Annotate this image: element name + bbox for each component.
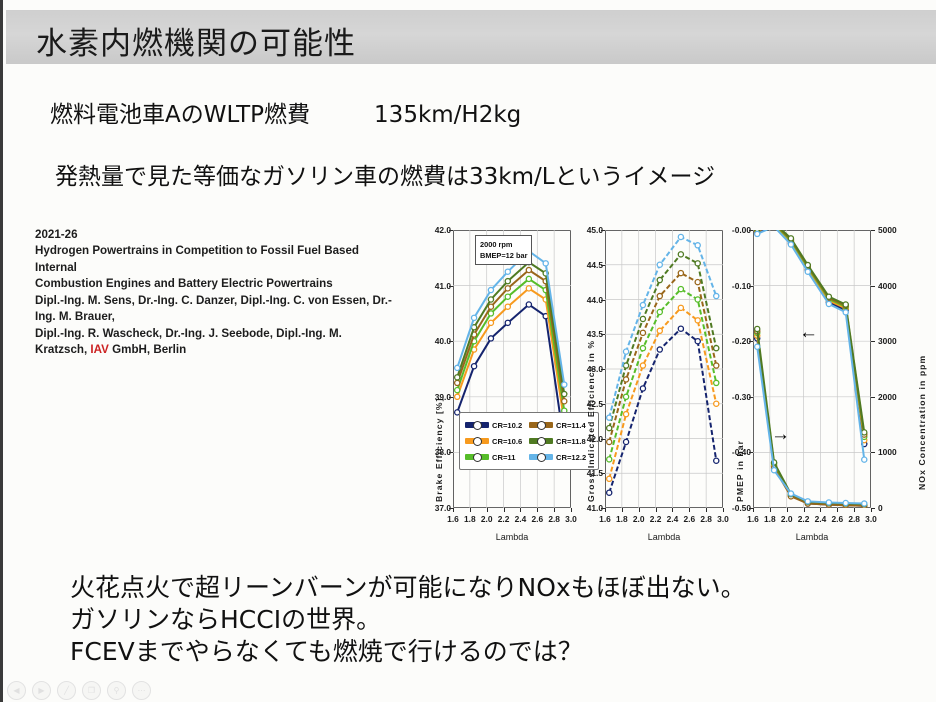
x-tick-2: 2.6 — [683, 514, 695, 524]
x-tick-2: 2.4 — [667, 514, 679, 524]
legend-label: CR=11.4 — [556, 421, 586, 430]
x-tick-mark — [854, 508, 855, 512]
x-tick-mark — [537, 508, 538, 512]
chart-svg-3 — [753, 230, 871, 508]
reference-author-line-4: Kratzsch, IAV GmbH, Berlin — [35, 342, 415, 358]
x-tick-mark — [770, 508, 771, 512]
y-tick-2: 44.5 — [571, 260, 603, 270]
x-tick-mark — [470, 508, 471, 512]
y-tick-1: 40.0 — [419, 336, 451, 346]
y-tick-mark-right — [871, 397, 875, 398]
x-tick-1: 1.6 — [447, 514, 459, 524]
previous-icon[interactable]: ◀ — [7, 681, 26, 700]
x-tick-2: 2.2 — [650, 514, 662, 524]
x-axis-label-1: Lambda — [453, 532, 571, 542]
annotation-bmep: BMEP=12 bar — [480, 250, 527, 261]
legend-item: CR=10.6 — [465, 437, 529, 446]
left-arrow-icon: ← — [799, 323, 818, 342]
x-tick-3: 2.4 — [815, 514, 827, 524]
x-tick-mark — [706, 508, 707, 512]
legend-label: CR=11 — [492, 453, 515, 462]
y-tick-1: 37.0 — [419, 503, 451, 513]
x-tick-1: 1.8 — [464, 514, 476, 524]
copy-icon[interactable]: ❐ — [82, 681, 101, 700]
x-tick-mark — [672, 508, 673, 512]
annotation-rpm: 2000 rpm — [480, 239, 527, 250]
legend-swatch-icon — [529, 422, 553, 429]
x-tick-mark — [820, 508, 821, 512]
x-tick-3: 3.0 — [865, 514, 877, 524]
x-tick-3: 2.6 — [831, 514, 843, 524]
reference-organization: IAV — [90, 343, 108, 356]
x-tick-1: 2.8 — [548, 514, 560, 524]
y-tick-2: 43.5 — [571, 329, 603, 339]
x-tick-mark — [453, 508, 454, 512]
pen-icon[interactable]: ╱ — [57, 681, 76, 700]
y-tick-1: 39.0 — [419, 392, 451, 402]
reference-title-line-1: Hydrogen Powertrains in Competition to F… — [35, 243, 415, 259]
legend-label: CR=10.6 — [492, 437, 522, 446]
legend-item: CR=12.2 — [529, 453, 593, 462]
x-tick-3: 2.2 — [798, 514, 810, 524]
legend-swatch-icon — [465, 422, 489, 429]
conclusion-line-2: ガソリンならHCCIの世界。 — [70, 604, 746, 636]
x-axis-label-3: Lambda — [753, 532, 871, 542]
y-tick-mark-right — [871, 341, 875, 342]
x-tick-mark — [689, 508, 690, 512]
conclusion-line-1: 火花点火で超リーンバーンが可能になりNOxもほぼ出ない。 — [70, 572, 746, 604]
reference-location: GmbH, Berlin — [109, 343, 186, 356]
y-axis-label-right: NOx Concentration in ppm — [917, 355, 927, 490]
y-tick-2: 45.0 — [571, 225, 603, 235]
x-tick-mark — [639, 508, 640, 512]
x-tick-1: 2.2 — [498, 514, 510, 524]
fuel-economy-value: 135km/H2kg — [374, 102, 521, 128]
x-tick-1: 2.4 — [515, 514, 527, 524]
x-tick-mark — [656, 508, 657, 512]
x-tick-2: 3.0 — [717, 514, 729, 524]
y-tick-right: 1000 — [878, 447, 897, 457]
y-tick-right: 3000 — [878, 336, 897, 346]
reference-title-line-3: Combustion Engines and Battery Electric … — [35, 276, 415, 292]
y-tick-3: -0.40 — [719, 447, 751, 457]
conclusion-line-3: FCEVまでやらなくても燃焼で行けるのでは？ — [70, 636, 746, 668]
y-tick-right: 5000 — [878, 225, 897, 235]
y-tick-2: 42.5 — [571, 399, 603, 409]
x-tick-3: 1.6 — [747, 514, 759, 524]
x-tick-1: 3.0 — [565, 514, 577, 524]
legend-swatch-icon — [465, 454, 489, 461]
reference-author-line-3: Dipl.-Ing. R. Wascheck, Dr.-Ing. J. Seeb… — [35, 326, 415, 342]
slide-canvas: 水素内燃機関の可能性 燃料電池車AのWLTP燃費135km/H2kg 発熱量で見… — [0, 0, 936, 702]
x-tick-mark — [787, 508, 788, 512]
y-tick-1: 42.0 — [419, 225, 451, 235]
right-arrow-icon: → — [771, 425, 790, 444]
x-tick-2: 1.6 — [599, 514, 611, 524]
y-tick-1: 41.0 — [419, 281, 451, 291]
y-tick-3: -0.10 — [719, 281, 751, 291]
fuel-economy-line: 燃料電池車AのWLTP燃費135km/H2kg — [50, 95, 521, 129]
y-tick-mark-right — [871, 230, 875, 231]
x-tick-1: 2.6 — [531, 514, 543, 524]
legend-row: CR=10.2CR=11.4 — [465, 417, 593, 433]
x-tick-3: 1.8 — [764, 514, 776, 524]
reference-id: 2021-26 — [35, 227, 415, 243]
x-axis-label-2: Lambda — [605, 532, 723, 542]
y-tick-2: 43.0 — [571, 364, 603, 374]
y-tick-2: 42.0 — [571, 434, 603, 444]
x-tick-mark — [804, 508, 805, 512]
x-tick-2: 2.8 — [700, 514, 712, 524]
reference-author-tail: Kratzsch, — [35, 343, 90, 356]
x-tick-mark — [554, 508, 555, 512]
chart-svg-2 — [605, 230, 723, 508]
page-title: 水素内燃機関の可能性 — [36, 18, 356, 63]
chart-panel-3: PMEP in bar-0.50-0.40-0.30-0.20-0.10-0.0… — [753, 218, 931, 563]
legend-item: CR=11.4 — [529, 421, 593, 430]
legend-item: CR=11 — [465, 453, 529, 462]
y-tick-2: 41.5 — [571, 468, 603, 478]
operating-point-annotation: 2000 rpmBMEP=12 bar — [475, 235, 532, 265]
more-icon[interactable]: ⋯ — [132, 681, 151, 700]
zoom-icon[interactable]: ⚲ — [107, 681, 126, 700]
x-tick-3: 2.0 — [781, 514, 793, 524]
legend-label: CR=12.2 — [556, 453, 586, 462]
y-tick-2: 41.0 — [571, 503, 603, 513]
y-tick-right: 0 — [878, 503, 883, 513]
reference-title-line-2: Internal — [35, 260, 415, 276]
x-tick-3: 2.8 — [848, 514, 860, 524]
fuel-economy-label: 燃料電池車AのWLTP燃費 — [50, 102, 310, 128]
reference-author-line-2: Ing. M. Brauer, — [35, 309, 415, 325]
legend-swatch-icon — [465, 438, 489, 445]
y-tick-3: -0.20 — [719, 336, 751, 346]
reference-author-line-1: Dipl.-Ing. M. Sens, Dr.-Ing. C. Danzer, … — [35, 293, 415, 309]
y-tick-right: 2000 — [878, 392, 897, 402]
y-tick-3: -0.00 — [719, 225, 751, 235]
play-icon[interactable]: ▶ — [32, 681, 51, 700]
conclusion-text: 火花点火で超リーンバーンが可能になりNOxもほぼ出ない。 ガソリンならHCCIの… — [70, 572, 746, 668]
x-tick-mark — [837, 508, 838, 512]
x-tick-mark — [622, 508, 623, 512]
x-tick-mark — [520, 508, 521, 512]
y-tick-mark-right — [871, 286, 875, 287]
y-tick-1: 38.0 — [419, 447, 451, 457]
y-tick-2: 44.0 — [571, 295, 603, 305]
x-tick-mark — [504, 508, 505, 512]
legend-row: CR=11CR=12.2 — [465, 449, 593, 465]
x-tick-2: 1.8 — [616, 514, 628, 524]
legend-swatch-icon — [529, 438, 553, 445]
x-tick-2: 2.0 — [633, 514, 645, 524]
y-tick-mark-right — [871, 452, 875, 453]
x-tick-1: 2.0 — [481, 514, 493, 524]
player-toolbar[interactable]: ◀▶╱❐⚲⋯ — [7, 681, 151, 700]
reference-citation: 2021-26 Hydrogen Powertrains in Competit… — [35, 227, 415, 359]
y-tick-right: 4000 — [878, 281, 897, 291]
y-tick-3: -0.30 — [719, 392, 751, 402]
x-tick-mark — [487, 508, 488, 512]
x-tick-mark — [871, 508, 872, 512]
y-tick-3: -0.50 — [719, 503, 751, 513]
legend-item: CR=10.2 — [465, 421, 529, 430]
equivalent-economy-line: 発熱量で見た等価なガソリン車の燃費は33km/Lというイメージ — [55, 157, 715, 191]
legend-label: CR=10.2 — [492, 421, 522, 430]
x-tick-mark — [753, 508, 754, 512]
figure-panels: Brake Efficiency [%]37.038.039.040.041.0… — [423, 218, 933, 563]
legend-swatch-icon — [529, 454, 553, 461]
x-tick-mark — [605, 508, 606, 512]
